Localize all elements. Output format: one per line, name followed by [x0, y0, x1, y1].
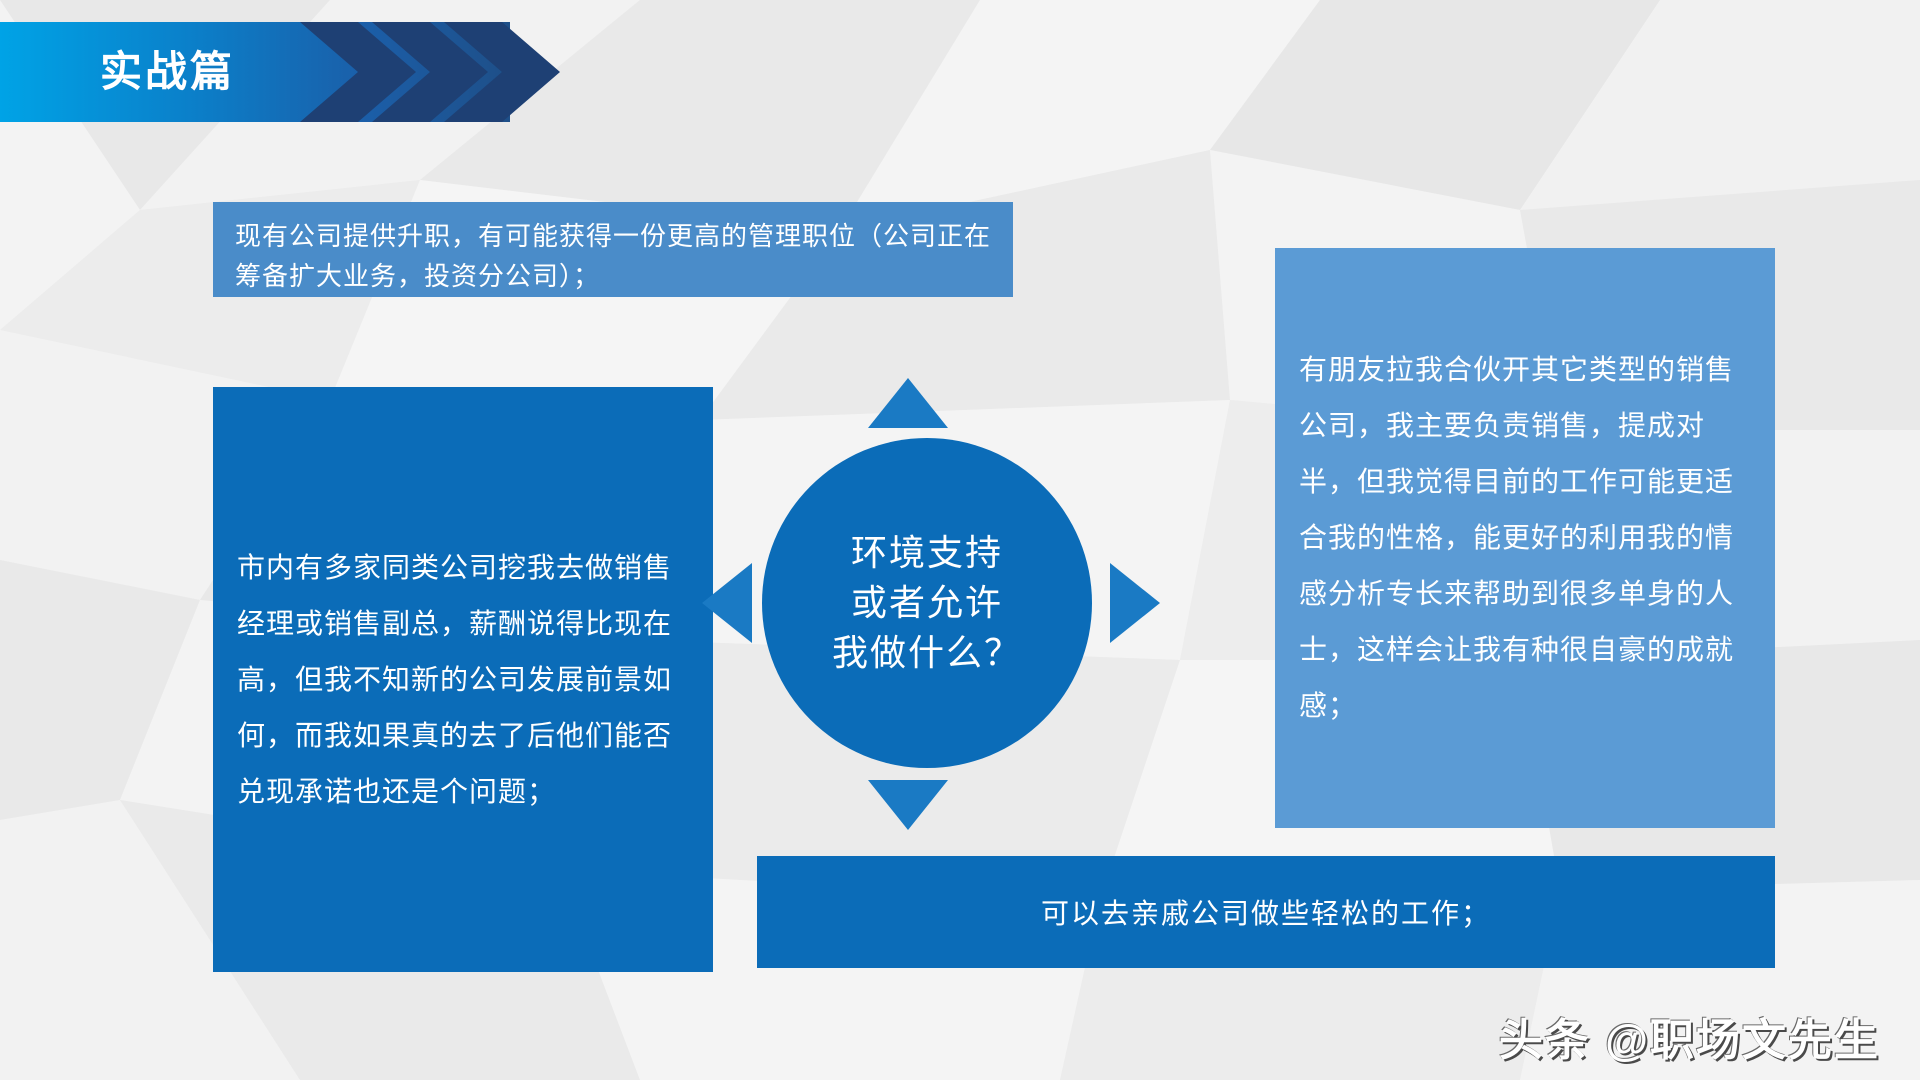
arrow-left-icon — [702, 563, 752, 643]
panel-right-text: 有朋友拉我合伙开其它类型的销售公司，我主要负责销售，提成对半，但我觉得目前的工作… — [1299, 342, 1751, 734]
center-line-3: 我做什么？ — [832, 628, 1022, 678]
panel-left: 市内有多家同类公司挖我去做销售经理或销售副总，薪酬说得比现在高，但我不知新的公司… — [213, 387, 713, 972]
arrow-right-icon — [1110, 563, 1160, 643]
arrow-up-icon — [868, 378, 948, 428]
arrow-down-icon — [868, 780, 948, 830]
watermark: 头条 @职场文先生 — [1499, 1004, 1880, 1068]
center-line-2: 或者允许 — [851, 578, 1003, 628]
panel-left-text: 市内有多家同类公司挖我去做销售经理或销售副总，薪酬说得比现在高，但我不知新的公司… — [237, 540, 689, 820]
chevron-arrows-icon — [300, 22, 560, 122]
panel-bottom-text: 可以去亲戚公司做些轻松的工作； — [1041, 892, 1491, 932]
page-title: 实战篇 — [100, 22, 235, 122]
panel-top-text: 现有公司提供升职，有可能获得一份更高的管理职位（公司正在筹备扩大业务，投资分公司… — [235, 216, 991, 296]
center-circle: 环境支持 或者允许 我做什么？ — [762, 438, 1092, 768]
panel-top: 现有公司提供升职，有可能获得一份更高的管理职位（公司正在筹备扩大业务，投资分公司… — [213, 202, 1013, 297]
center-line-1: 环境支持 — [851, 528, 1003, 578]
panel-bottom: 可以去亲戚公司做些轻松的工作； — [757, 856, 1775, 968]
panel-right: 有朋友拉我合伙开其它类型的销售公司，我主要负责销售，提成对半，但我觉得目前的工作… — [1275, 248, 1775, 828]
